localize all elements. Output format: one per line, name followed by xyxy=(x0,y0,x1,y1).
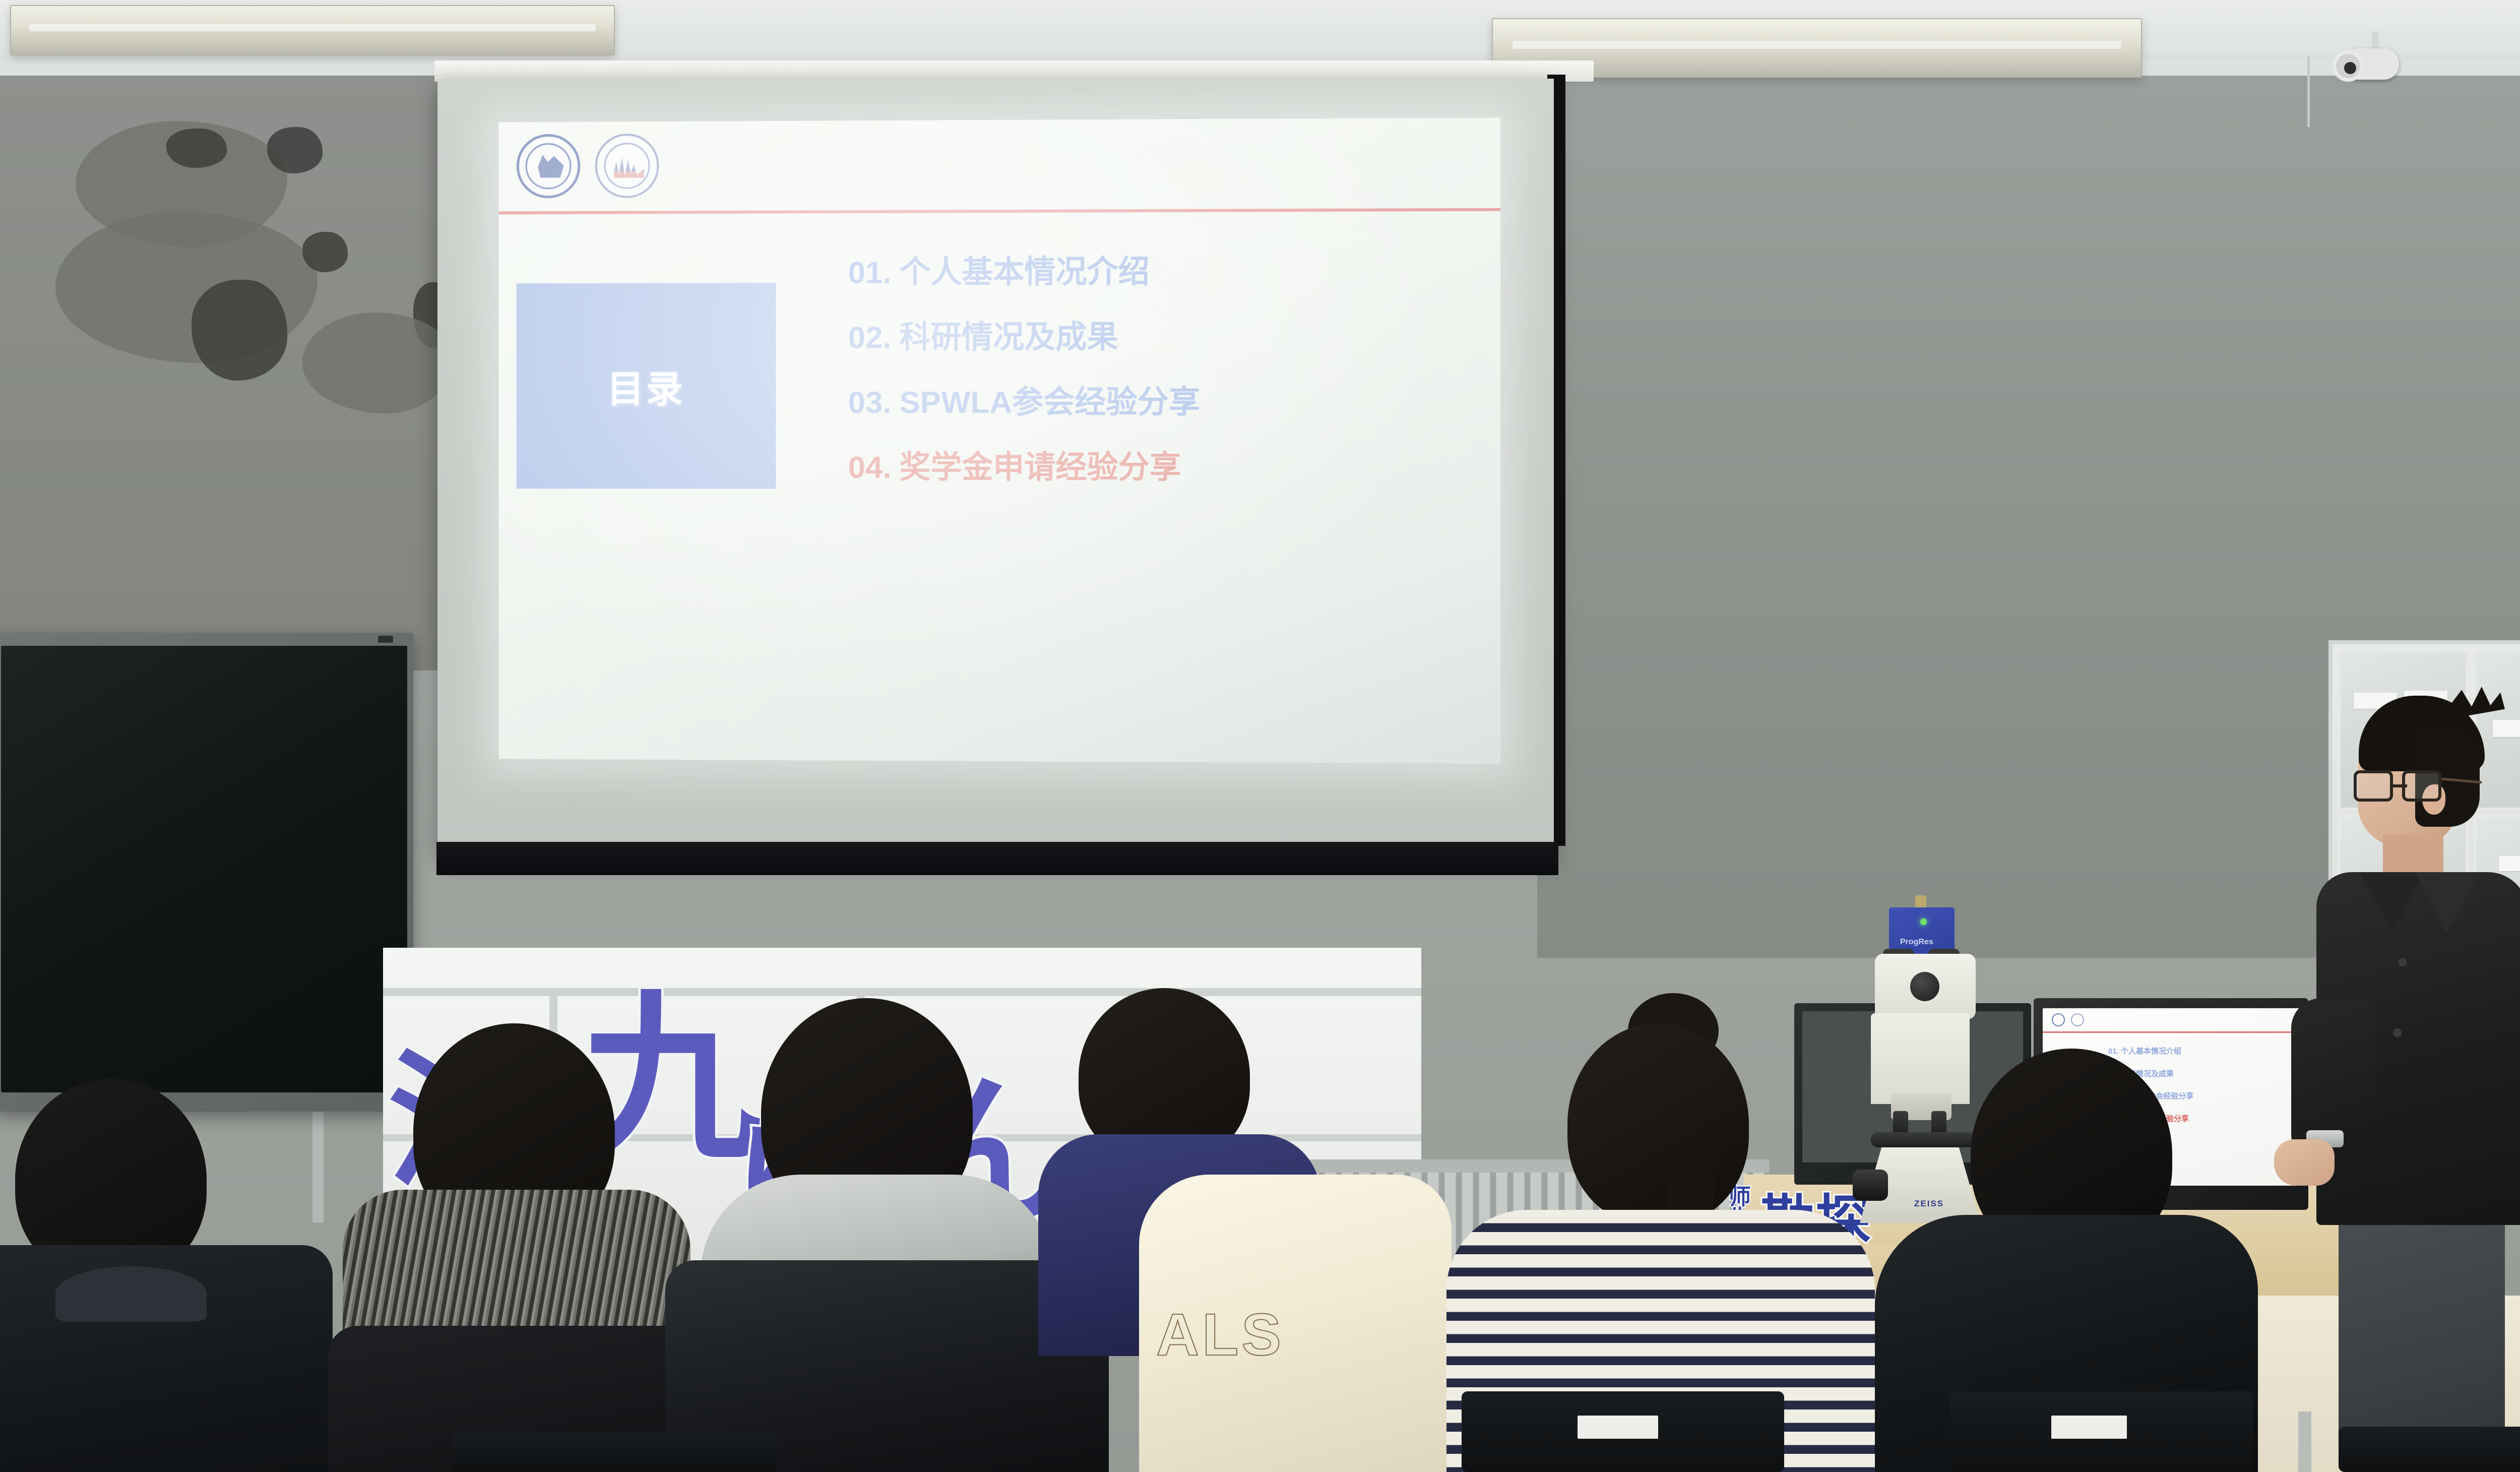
eyeglasses-lens-left xyxy=(2354,770,2393,802)
projection-screen-assembly: 目录 01.个人基本情况介绍 02.科研情况及成果 03.SPWLA参会经验分享… xyxy=(444,60,1673,923)
toc-item-1-label: 个人基本情况介绍 xyxy=(900,255,1150,290)
toc-item-4-number: 04. xyxy=(848,450,892,485)
university-seal-icon xyxy=(2052,1013,2065,1026)
coat-collar xyxy=(55,1266,207,1322)
toc-item-3: 03.SPWLA参会经验分享 xyxy=(848,386,1481,419)
camera-led-indicator xyxy=(1920,918,1927,925)
chair-label xyxy=(1578,1416,1658,1439)
slide-divider-rule xyxy=(498,208,1500,215)
presenter-hand xyxy=(2274,1139,2335,1186)
chair-label xyxy=(2051,1416,2127,1439)
chair-back[interactable] xyxy=(454,1432,776,1472)
toc-item-1-number: 01. xyxy=(848,256,892,290)
monitor-divider-rule xyxy=(2043,1031,2299,1033)
toc-title-label: 目录 xyxy=(607,359,685,413)
toc-item-2-label: 科研情况及成果 xyxy=(900,320,1118,355)
chair-back[interactable] xyxy=(1462,1391,1784,1472)
shirt-button xyxy=(2398,958,2407,966)
monitor-logo-row xyxy=(2052,1013,2084,1026)
projected-slide: 目录 01.个人基本情况介绍 02.科研情况及成果 03.SPWLA参会经验分享… xyxy=(498,117,1500,763)
paint-patch xyxy=(192,280,287,381)
toc-item-1: 01.个人基本情况介绍 xyxy=(848,255,1481,289)
paint-patch xyxy=(166,129,227,168)
audience-member-1 xyxy=(0,1079,302,1472)
toc-item-3-label: SPWLA参会经验分享 xyxy=(900,385,1201,420)
toc-item-3-number: 03. xyxy=(848,385,892,420)
classroom-scene: 目录 01.个人基本情况介绍 02.科研情况及成果 03.SPWLA参会经验分享… xyxy=(0,0,2520,1472)
microscope-head-knob[interactable] xyxy=(1910,972,1939,1001)
ceiling-light-left xyxy=(10,5,615,55)
audience-member-2 xyxy=(323,1023,696,1472)
toc-title-box: 目录 xyxy=(517,283,776,489)
camera-lens-icon xyxy=(2333,50,2364,82)
slide-logo-row xyxy=(517,134,659,198)
university-seal-icon xyxy=(517,134,580,199)
paint-patch xyxy=(267,127,323,173)
eyeglasses-bridge xyxy=(2390,784,2407,787)
eyeglasses-lens-right xyxy=(2402,770,2441,802)
audience-member-5: ALS xyxy=(1139,1154,1452,1472)
shirt-button xyxy=(2393,1028,2402,1037)
screen-weight-bar xyxy=(436,842,1558,875)
display-camera-icon xyxy=(378,636,393,643)
chair-back[interactable] xyxy=(2339,1427,2520,1472)
chair-back[interactable] xyxy=(1950,1391,2253,1472)
security-camera xyxy=(2323,31,2419,92)
toc-item-2: 02.科研情况及成果 xyxy=(848,320,1481,354)
toc-item-4: 04.奖学金申请经验分享 xyxy=(848,451,1481,484)
paint-patch xyxy=(302,232,348,272)
geophysics-college-seal-icon xyxy=(595,134,659,198)
jacket-text: ALS xyxy=(1156,1301,1284,1369)
presenter xyxy=(2298,696,2520,1472)
audience-head xyxy=(1567,1023,1749,1225)
camera-brand-label: ProgRes xyxy=(1900,938,1933,947)
toc-item-4-label: 奖学金申请经验分享 xyxy=(900,450,1181,485)
geophysics-college-seal-icon xyxy=(2071,1013,2084,1026)
camera-cable xyxy=(2307,56,2310,127)
toc-item-2-number: 02. xyxy=(848,320,892,355)
toc-list: 01.个人基本情况介绍 02.科研情况及成果 03.SPWLA参会经验分享 04… xyxy=(848,255,1481,517)
